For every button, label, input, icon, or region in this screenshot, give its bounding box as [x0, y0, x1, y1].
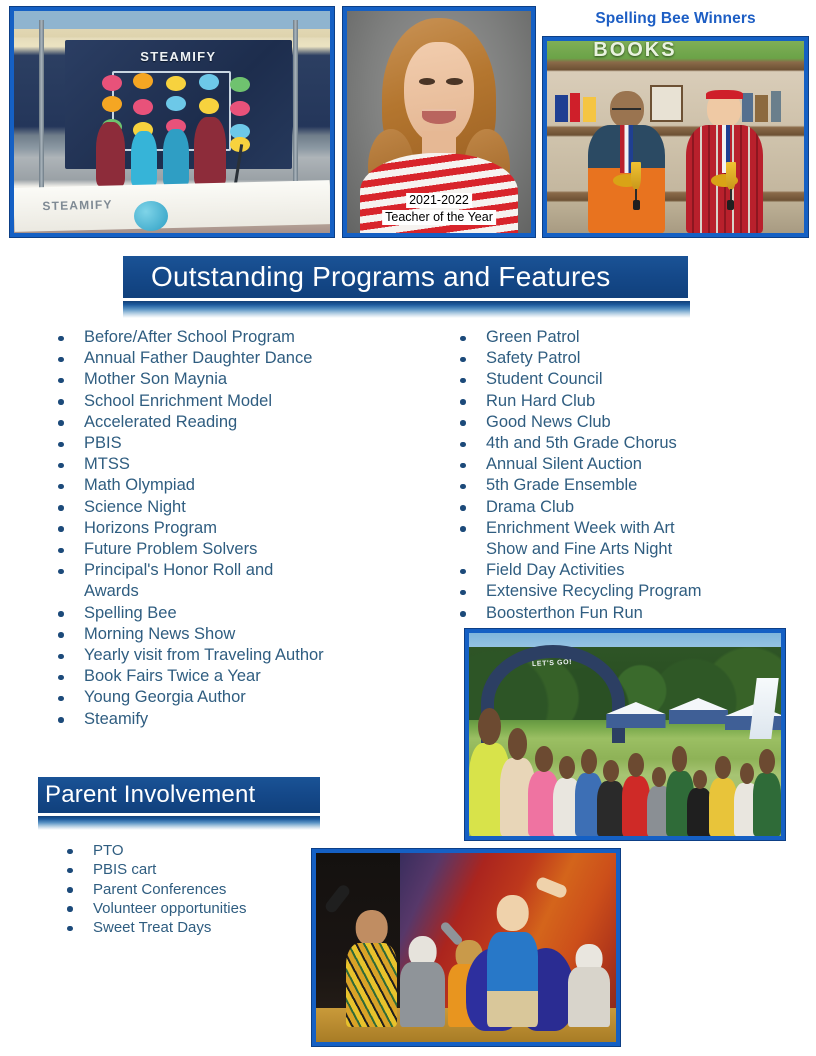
- caption-award-title: Teacher of the Year: [382, 210, 496, 225]
- caption-school-year: 2021-2022: [406, 193, 472, 208]
- trophy-stem: [730, 189, 732, 201]
- program-left-item-continuation: Awards: [48, 581, 398, 602]
- funrun-photo-content: LET'S GO!: [469, 633, 781, 836]
- crowd-person-13: [753, 773, 781, 836]
- program-left-item: Science Night: [48, 497, 398, 518]
- program-left-item: Book Fairs Twice a Year: [48, 666, 398, 687]
- crowd-person-7: [622, 776, 650, 836]
- dot-blue-2: [166, 96, 186, 112]
- spelling-bee-winners-photo: BOOKS: [543, 37, 808, 237]
- dot-orange-1: [133, 73, 153, 89]
- program-left-item: School Enrichment Model: [48, 391, 398, 412]
- red-headband: [706, 90, 743, 100]
- program-left-item: Horizons Program: [48, 518, 398, 539]
- program-right-item: Good News Club: [450, 412, 780, 433]
- steamify-banner-title: STEAMIFY: [65, 49, 293, 64]
- program-right-item: Green Patrol: [450, 327, 780, 348]
- trophy-cup: [631, 162, 641, 190]
- program-left-item: Before/After School Program: [48, 327, 398, 348]
- boosterthon-fun-run-photo: LET'S GO!: [465, 629, 785, 840]
- newsletter-page: STEAMIFY: [0, 0, 816, 1056]
- book-2: [570, 93, 580, 122]
- performer-blue-shirt: [487, 932, 538, 1027]
- stage-skirt-text: STEAMIFY: [42, 197, 113, 213]
- program-right-item: Run Hard Club: [450, 391, 780, 412]
- book-6: [771, 91, 781, 122]
- trophy-base: [633, 200, 640, 211]
- performer-white-costume: [568, 944, 610, 1027]
- programs-list-right: Green PatrolSafety PatrolStudent Council…: [450, 327, 780, 624]
- performer-head: [496, 895, 529, 932]
- program-right-item: Student Council: [450, 369, 780, 390]
- book-1: [555, 95, 568, 122]
- programs-list-left: Before/After School ProgramAnnual Father…: [48, 327, 398, 730]
- parent-involvement-item: Parent Conferences: [55, 880, 335, 899]
- program-left-item: Annual Father Daughter Dance: [48, 348, 398, 369]
- parent-involvement-item: PTO: [55, 841, 335, 860]
- trophy-stem: [635, 189, 637, 201]
- parent-heading-label: Parent Involvement: [38, 777, 320, 813]
- performer-bluebird-lead: [487, 895, 538, 1027]
- student-1: [96, 122, 125, 187]
- tent-pole-left: [39, 20, 44, 189]
- steamify-photo-content: STEAMIFY: [14, 11, 330, 233]
- performer-head: [355, 910, 388, 947]
- student-4: [194, 117, 226, 186]
- dot-yellow-1: [166, 76, 186, 92]
- program-left-item: MTSS: [48, 454, 398, 475]
- teacher-of-the-year-photo: 2021-2022 Teacher of the Year: [343, 7, 535, 237]
- program-right-item: Extensive Recycling Program: [450, 581, 780, 602]
- drama-photo-content: [316, 853, 616, 1042]
- student-3: [163, 129, 190, 186]
- program-left-item: Future Problem Solvers: [48, 539, 398, 560]
- parent-involvement-item: PBIS cart: [55, 860, 335, 879]
- beach-ball-graphic: [134, 201, 168, 231]
- program-right-item: 5th Grade Ensemble: [450, 475, 780, 496]
- parent-heading-underline: [38, 816, 320, 830]
- parent-involvement-item: Sweet Treat Days: [55, 918, 335, 937]
- students-on-stage: [96, 111, 229, 186]
- performer-body: [400, 962, 445, 1027]
- parent-involvement-heading: Parent Involvement: [38, 777, 320, 830]
- program-right-item: Field Day Activities: [450, 560, 780, 581]
- eye-right: [446, 78, 463, 85]
- program-right-item: Safety Patrol: [450, 348, 780, 369]
- program-right-item-continuation: Show and Fine Arts Night: [450, 539, 780, 560]
- performer-grey-costume: [400, 936, 445, 1027]
- program-left-item: Accelerated Reading: [48, 412, 398, 433]
- student-winner-girl: [686, 91, 763, 233]
- program-right-item: 4th and 5th Grade Chorus: [450, 433, 780, 454]
- steamify-stage-photo: STEAMIFY: [10, 7, 334, 237]
- crowd-person-11: [709, 778, 737, 836]
- programs-heading-label: Outstanding Programs and Features: [123, 256, 688, 298]
- spelling-bee-winners-title: Spelling Bee Winners: [543, 10, 808, 28]
- program-right-item: Boosterthon Fun Run: [450, 603, 780, 624]
- program-right-item: Enrichment Week with Art: [450, 518, 780, 539]
- eye-left: [419, 78, 436, 85]
- dot-green-1: [230, 77, 250, 93]
- program-left-item: Steamify: [48, 709, 398, 730]
- dot-pink-3: [230, 101, 250, 117]
- parent-involvement-list: PTOPBIS cartParent ConferencesVolunteer …: [55, 841, 335, 937]
- trophy-base: [727, 200, 734, 211]
- girl-trophy: [726, 162, 736, 210]
- program-right-item: Annual Silent Auction: [450, 454, 780, 475]
- boy-trophy: [631, 162, 641, 210]
- student-2: [131, 131, 158, 187]
- program-right-item: Drama Club: [450, 497, 780, 518]
- programs-heading-underline: [123, 301, 690, 318]
- program-left-item: Morning News Show: [48, 624, 398, 645]
- stage-skirt-banner: STEAMIFY: [14, 180, 330, 232]
- smile: [422, 109, 455, 125]
- performer-yellow-costume: [346, 910, 397, 1027]
- program-left-item: Young Georgia Author: [48, 687, 398, 708]
- library-background: [547, 41, 804, 233]
- trophy-cup: [726, 162, 736, 190]
- dot-orange-2: [102, 96, 122, 112]
- program-left-item: Spelling Bee: [48, 603, 398, 624]
- crowd-person-6: [597, 781, 625, 836]
- parent-involvement-item: Volunteer opportunities: [55, 899, 335, 918]
- performer-tunic: [346, 943, 397, 1027]
- spelling-photo-content: BOOKS: [547, 41, 804, 233]
- program-left-item: Yearly visit from Traveling Author: [48, 645, 398, 666]
- glasses-icon: [612, 108, 641, 115]
- tent-pole-right: [293, 20, 298, 189]
- books-sign-text: BOOKS: [593, 41, 676, 62]
- face: [404, 42, 474, 144]
- program-left-item: Principal's Honor Roll and: [48, 560, 398, 581]
- dot-blue-1: [199, 74, 219, 90]
- programs-section-heading: Outstanding Programs and Features: [123, 256, 690, 318]
- student-crowd: [469, 710, 781, 836]
- student-winner-boy: [588, 91, 665, 233]
- program-left-item: Math Olympiad: [48, 475, 398, 496]
- performer-body: [568, 967, 610, 1027]
- arch-text: LET'S GO!: [532, 659, 572, 668]
- program-left-item: PBIS: [48, 433, 398, 454]
- dot-pink-1: [102, 75, 122, 91]
- drama-club-performance-photo: [312, 849, 620, 1046]
- program-left-item: Mother Son Maynia: [48, 369, 398, 390]
